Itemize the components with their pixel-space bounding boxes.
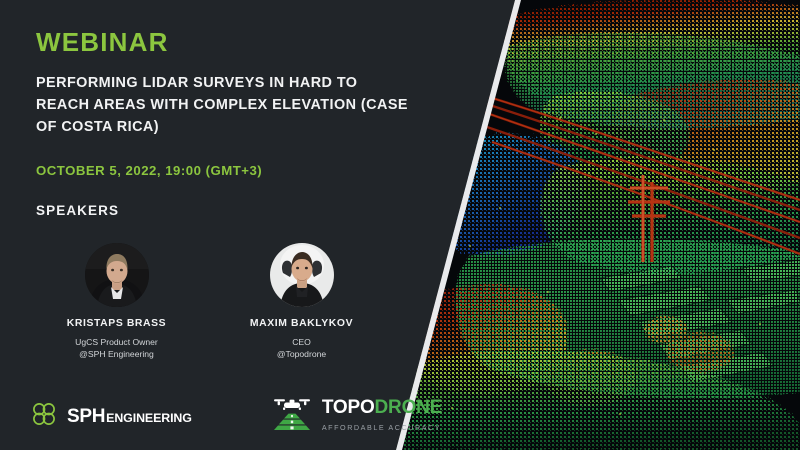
sph-wordmark: SPH ENGINEERING	[67, 406, 192, 428]
speaker-org: @Topodrone	[277, 349, 326, 359]
content-column: WEBINAR Performing LiDAR surveys in hard…	[0, 0, 430, 450]
kicker-label: WEBINAR	[36, 27, 169, 58]
speakers-list: KRISTAPS BRASS UgCS Product Owner @SPH E…	[24, 243, 394, 360]
speaker-role: UgCS Product Owner @SPH Engineering	[75, 336, 158, 360]
speaker-role: CEO @Topodrone	[277, 336, 326, 360]
avatar	[270, 243, 334, 307]
sph-engineering-logo: SPH ENGINEERING	[30, 400, 192, 433]
speaker-role-title: UgCS Product Owner	[75, 337, 158, 347]
speaker-name: MAXIM BAKLYKOV	[250, 318, 353, 329]
topo-word-secondary: DRONE	[375, 398, 443, 417]
topodrone-wordmark: TOPO DRONE AFFORDABLE ACCURACY	[322, 398, 442, 435]
avatar	[85, 243, 149, 307]
speakers-section-label: SPEAKERS	[36, 203, 119, 218]
topodrone-title: TOPO DRONE	[322, 398, 442, 417]
page-title: Performing LiDAR surveys in hard to reac…	[36, 72, 412, 138]
speaker-org: @SPH Engineering	[79, 349, 154, 359]
sph-word-primary: SPH	[67, 406, 105, 428]
drone-road-icon	[270, 396, 314, 437]
topodrone-logo: TOPO DRONE AFFORDABLE ACCURACY	[270, 396, 442, 437]
sph-word-secondary: ENGINEERING	[106, 411, 192, 425]
topodrone-tagline: AFFORDABLE ACCURACY	[322, 423, 441, 432]
partner-logos: SPH ENGINEERING	[30, 396, 442, 437]
speaker-card: KRISTAPS BRASS UgCS Product Owner @SPH E…	[24, 243, 209, 360]
clover-icon	[30, 400, 58, 433]
speaker-role-title: CEO	[292, 337, 311, 347]
speaker-card: MAXIM BAKLYKOV CEO @Topodrone	[209, 243, 394, 360]
speaker-name: KRISTAPS BRASS	[67, 318, 166, 329]
webinar-datetime: OCTOBER 5, 2022, 19:00 (GMT+3)	[36, 163, 262, 178]
webinar-poster: WEBINAR Performing LiDAR surveys in hard…	[0, 0, 800, 450]
topo-word-primary: TOPO	[322, 398, 375, 417]
